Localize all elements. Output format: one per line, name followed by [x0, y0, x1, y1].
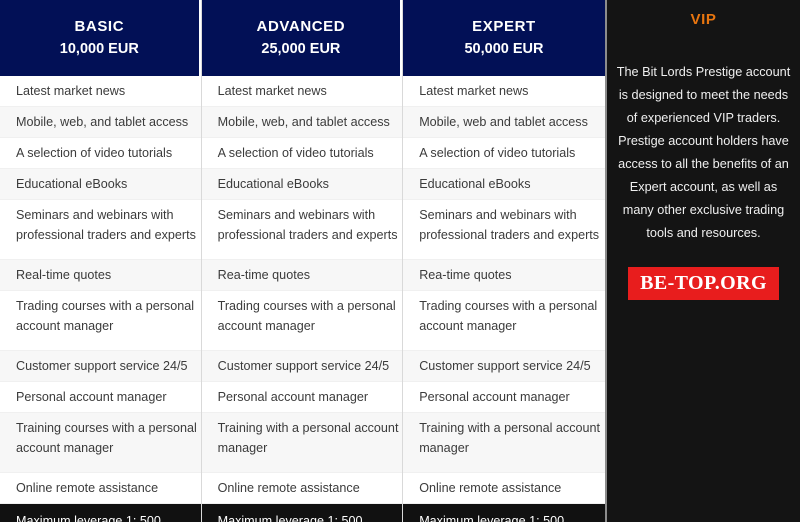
- plan-header: ADVANCED25,000 EUR: [202, 0, 403, 76]
- feature-row: Seminars and webinars with professional …: [403, 200, 605, 260]
- plan-columns: BASIC10,000 EURLatest market newsMobile,…: [0, 0, 605, 522]
- pricing-comparison-table: BASIC10,000 EURLatest market newsMobile,…: [0, 0, 800, 522]
- feature-row: Trading courses with a personal account …: [202, 291, 403, 351]
- be-top-org-badge: BE-TOP.ORG: [628, 267, 779, 300]
- feature-row: Seminars and webinars with professional …: [202, 200, 403, 260]
- feature-row: Real-time quotes: [0, 260, 201, 291]
- feature-row: Online remote assistance: [202, 473, 403, 504]
- feature-row: Maximum leverage 1: 500: [0, 504, 201, 522]
- feature-row: A selection of video tutorials: [202, 138, 403, 169]
- feature-row: Personal account manager: [202, 382, 403, 413]
- feature-row: Personal account manager: [0, 382, 201, 413]
- feature-row: Maximum leverage 1: 500: [202, 504, 403, 522]
- feature-row: Customer support service 24/5: [0, 351, 201, 382]
- plan-header: BASIC10,000 EUR: [0, 0, 201, 76]
- vip-title: VIP: [691, 11, 717, 29]
- feature-row: Personal account manager: [403, 382, 605, 413]
- feature-row: Training courses with a personal account…: [0, 413, 201, 473]
- feature-row: Maximum leverage 1: 500: [403, 504, 605, 522]
- plan-price: 10,000 EUR: [60, 39, 139, 59]
- feature-row: Latest market news: [403, 76, 605, 107]
- feature-row: Rea-time quotes: [403, 260, 605, 291]
- feature-row: Educational eBooks: [202, 169, 403, 200]
- feature-list: Latest market newsMobile, web and tablet…: [403, 76, 605, 522]
- feature-row: Customer support service 24/5: [403, 351, 605, 382]
- feature-row: Trading courses with a personal account …: [403, 291, 605, 351]
- feature-row: Latest market news: [202, 76, 403, 107]
- plan-name: EXPERT: [472, 17, 536, 37]
- plan-column-basic: BASIC10,000 EURLatest market newsMobile,…: [0, 0, 202, 522]
- feature-row: Training with a personal account manager: [202, 413, 403, 473]
- feature-row: Seminars and webinars with professional …: [0, 200, 201, 260]
- feature-row: Trading courses with a personal account …: [0, 291, 201, 351]
- feature-row: Mobile, web and tablet access: [403, 107, 605, 138]
- vip-panel: VIP The Bit Lords Prestige account is de…: [605, 0, 800, 522]
- feature-row: Mobile, web, and tablet access: [0, 107, 201, 138]
- vip-description: The Bit Lords Prestige account is design…: [607, 61, 800, 245]
- feature-row: Online remote assistance: [403, 473, 605, 504]
- feature-row: Mobile, web, and tablet access: [202, 107, 403, 138]
- feature-row: Customer support service 24/5: [202, 351, 403, 382]
- plan-header: EXPERT50,000 EUR: [403, 0, 605, 76]
- feature-row: A selection of video tutorials: [0, 138, 201, 169]
- plan-column-advanced: ADVANCED25,000 EURLatest market newsMobi…: [202, 0, 404, 522]
- feature-row: Rea-time quotes: [202, 260, 403, 291]
- feature-row: Educational eBooks: [403, 169, 605, 200]
- plan-price: 25,000 EUR: [261, 39, 340, 59]
- feature-row: Training with a personal account manager: [403, 413, 605, 473]
- feature-row: Educational eBooks: [0, 169, 201, 200]
- plan-name: BASIC: [74, 17, 124, 37]
- feature-row: Online remote assistance: [0, 473, 201, 504]
- feature-list: Latest market newsMobile, web, and table…: [0, 76, 201, 522]
- plan-column-expert: EXPERT50,000 EURLatest market newsMobile…: [403, 0, 605, 522]
- feature-row: Latest market news: [0, 76, 201, 107]
- feature-list: Latest market newsMobile, web, and table…: [202, 76, 403, 522]
- plan-name: ADVANCED: [257, 17, 346, 37]
- plan-price: 50,000 EUR: [464, 39, 543, 59]
- feature-row: A selection of video tutorials: [403, 138, 605, 169]
